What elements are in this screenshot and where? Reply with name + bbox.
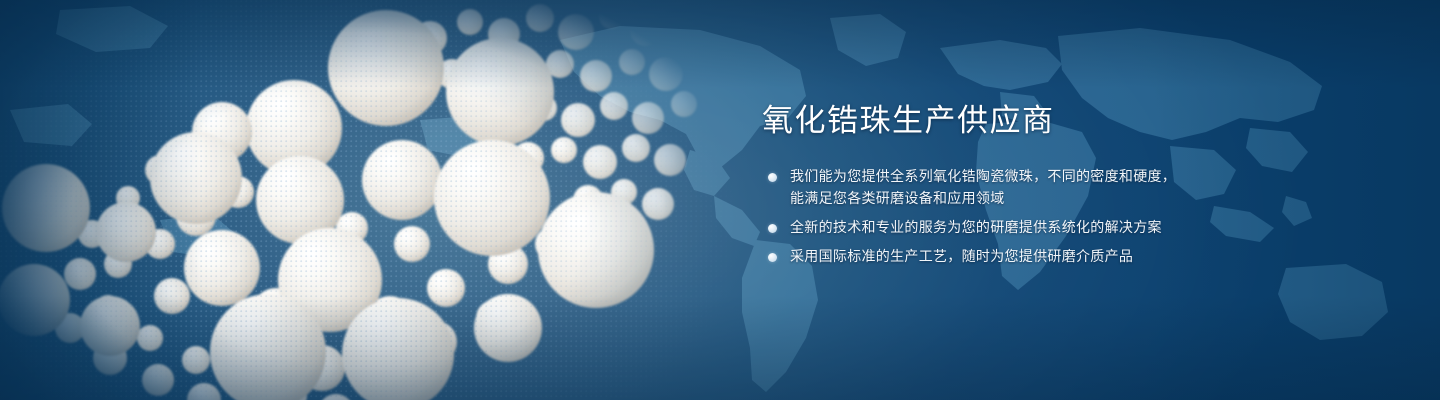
filled-circle-icon	[768, 253, 777, 262]
banner-headline: 氧化锆珠生产供应商	[762, 104, 1322, 140]
filled-circle-icon	[768, 173, 777, 182]
benefits-list: 我们能为您提供全系列氧化锆陶瓷微珠，不同的密度和硬度， 能满足您各类研磨设备和应…	[762, 166, 1322, 268]
banner-copy: 氧化锆珠生产供应商 我们能为您提供全系列氧化锆陶瓷微珠，不同的密度和硬度， 能满…	[762, 104, 1322, 268]
promo-banner: 氧化锆珠生产供应商 我们能为您提供全系列氧化锆陶瓷微珠，不同的密度和硬度， 能满…	[0, 0, 1440, 400]
list-item: 我们能为您提供全系列氧化锆陶瓷微珠，不同的密度和硬度， 能满足您各类研磨设备和应…	[762, 166, 1322, 210]
bullet-line: 全新的技术和专业的服务为您的研磨提供系统化的解决方案	[790, 217, 1322, 239]
bullet-line: 我们能为您提供全系列氧化锆陶瓷微珠，不同的密度和硬度，	[790, 166, 1322, 188]
list-item: 全新的技术和专业的服务为您的研磨提供系统化的解决方案	[762, 217, 1322, 239]
list-item: 采用国际标准的生产工艺，随时为您提供研磨介质产品	[762, 246, 1322, 268]
filled-circle-icon	[768, 224, 777, 233]
bullet-line: 采用国际标准的生产工艺，随时为您提供研磨介质产品	[790, 246, 1322, 268]
bullet-line: 能满足您各类研磨设备和应用领域	[790, 188, 1322, 210]
